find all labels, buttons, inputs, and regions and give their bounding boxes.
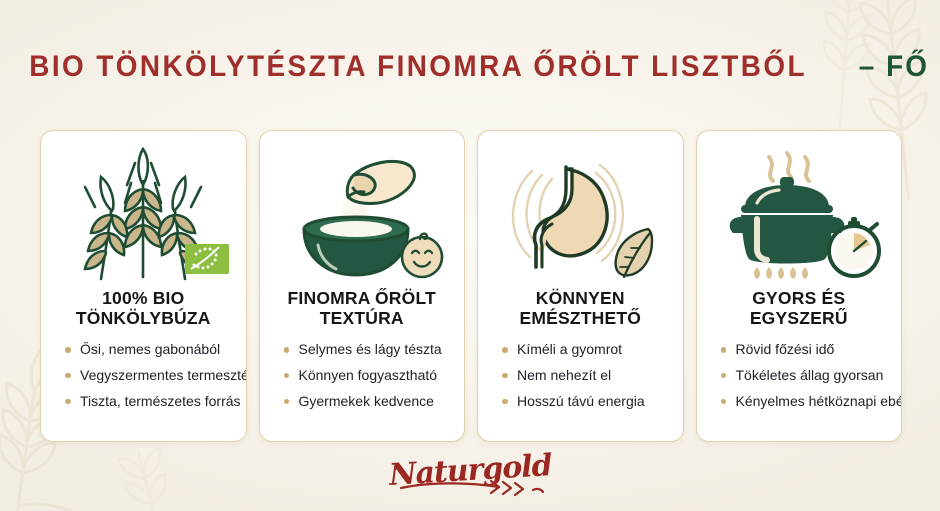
eu-organic-leaf-icon	[185, 244, 229, 274]
benefit-card-bio-spelt[interactable]: 100% BIO TÖNKÖLYBÚZA Ősi, nemes gabonábó…	[40, 130, 247, 442]
list-item: Ősi, nemes gabonából	[65, 341, 236, 359]
list-item: Rövid főzési idő	[721, 341, 892, 359]
list-item: Tökéletes állag gyorsan	[721, 367, 892, 385]
page-title: BIO TÖNKÖLYTÉSZTA FINOMRA ŐRÖLT LISZTBŐL…	[0, 52, 940, 82]
list-item: Nem nehezít el	[502, 367, 673, 385]
list-item: Kényelmes hétköznapi ebéd	[721, 393, 892, 411]
brand-logo: Naturgold	[0, 453, 940, 497]
list-item: Kíméli a gyomrot	[502, 341, 673, 359]
card-bullet-list: Ősi, nemes gabonából Vegyszermentes term…	[51, 341, 236, 419]
list-item: Tiszta, természetes forrás	[65, 393, 236, 411]
card-title: FINOMRA ŐRÖLT TEXTÚRA	[270, 287, 455, 329]
brand-logo-text: Naturgold	[388, 448, 553, 493]
list-item: Hosszú távú energia	[502, 393, 673, 411]
stomach-digestion-leaf-icon	[488, 143, 673, 285]
leaf-icon	[616, 229, 652, 277]
cooking-pot-stopwatch-icon	[707, 143, 892, 285]
card-bullet-list: Kíméli a gyomrot Nem nehezít el Hosszú t…	[488, 341, 673, 419]
benefit-card-fine-texture[interactable]: FINOMRA ŐRÖLT TEXTÚRA Selymes és lágy té…	[259, 130, 466, 442]
benefit-card-fast-easy[interactable]: GYORS ÉS EGYSZERŰ Rövid főzési idő Tökél…	[696, 130, 903, 442]
benefit-card-easy-digestion[interactable]: KÖNNYEN EMÉSZTHETŐ Kíméli a gyomrot Nem …	[477, 130, 684, 442]
page-title-main: BIO TÖNKÖLYTÉSZTA FINOMRA ŐRÖLT LISZTBŐL	[29, 52, 807, 82]
page-title-accent: – FŐ ELŐNYÖK	[859, 52, 940, 82]
list-item: Selymes és lágy tészta	[284, 341, 455, 359]
card-title: 100% BIO TÖNKÖLYBÚZA	[51, 287, 236, 329]
card-title: KÖNNYEN EMÉSZTHETŐ	[488, 287, 673, 329]
wheat-ears-organic-icon	[51, 143, 236, 285]
list-item: Gyermekek kedvence	[284, 393, 455, 411]
hand-sifting-flour-bowl-icon	[270, 143, 455, 285]
benefit-card-list: 100% BIO TÖNKÖLYBÚZA Ősi, nemes gabonábó…	[40, 130, 902, 442]
card-title: GYORS ÉS EGYSZERŰ	[707, 287, 892, 329]
card-bullet-list: Rövid főzési idő Tökéletes állag gyorsan…	[707, 341, 892, 419]
card-bullet-list: Selymes és lágy tészta Könnyen fogyaszth…	[270, 341, 455, 419]
list-item: Vegyszermentes termesztés	[65, 367, 236, 385]
list-item: Könnyen fogyasztható	[284, 367, 455, 385]
